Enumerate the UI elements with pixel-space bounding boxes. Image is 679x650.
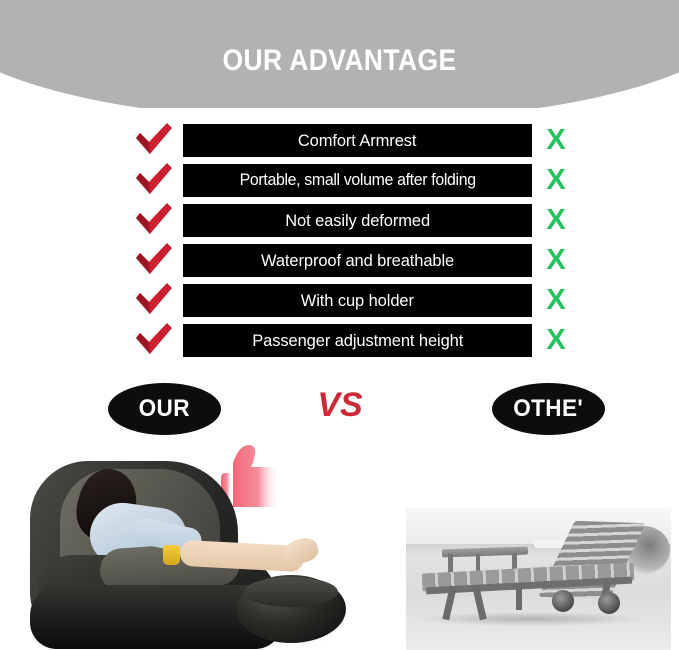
advantage-table: Comfort Armrest X Portable, small volume…: [0, 124, 679, 364]
red-check-icon: [133, 161, 175, 199]
green-x-icon: X: [539, 203, 573, 237]
table-row: With cup holder X: [0, 284, 679, 317]
red-check-icon: [133, 201, 175, 239]
feature-label: Passenger adjustment height: [252, 331, 463, 351]
page-title: OUR ADVANTAGE: [41, 44, 639, 78]
feature-label: Not easily deformed: [285, 211, 430, 231]
table-row: Waterproof and breathable X: [0, 244, 679, 277]
lounger-wheel: [598, 592, 620, 614]
green-x-icon: X: [539, 283, 573, 317]
green-x-icon: X: [539, 323, 573, 357]
green-x-icon: X: [539, 123, 573, 157]
feature-bar: Passenger adjustment height: [183, 324, 532, 357]
red-check-icon: [133, 121, 175, 159]
feature-bar: Comfort Armrest: [183, 124, 532, 157]
ottoman-top: [244, 577, 338, 607]
badge-our: OUR: [108, 383, 221, 435]
feature-label: Comfort Armrest: [298, 131, 417, 151]
feature-label: With cup holder: [301, 291, 414, 311]
table-row: Not easily deformed X: [0, 204, 679, 237]
red-check-icon: [133, 241, 175, 279]
badge-other-label: OTHE': [514, 395, 584, 423]
feature-bar: With cup holder: [183, 284, 532, 317]
red-check-icon: [133, 281, 175, 319]
versus-strip: OUR VS OTHE': [0, 383, 679, 438]
feature-label: Waterproof and breathable: [261, 251, 454, 271]
green-x-icon: X: [539, 163, 573, 197]
vs-label: VS: [300, 386, 380, 425]
cup-holder-cup: [163, 545, 180, 565]
feature-bar: Portable, small volume after folding: [183, 164, 532, 197]
table-row: Passenger adjustment height X: [0, 324, 679, 357]
badge-our-label: OUR: [139, 395, 190, 423]
feature-bar: Waterproof and breathable: [183, 244, 532, 277]
red-check-icon: [133, 321, 175, 359]
table-row: Comfort Armrest X: [0, 124, 679, 157]
feature-label: Portable, small volume after folding: [239, 171, 475, 190]
green-x-icon: X: [539, 243, 573, 277]
feature-bar: Not easily deformed: [183, 204, 532, 237]
badge-other: OTHE': [492, 383, 605, 435]
lounger-leg: [516, 584, 522, 610]
our-product-photo: [8, 447, 356, 650]
photo-boat: [534, 540, 564, 548]
other-product-photo: [406, 508, 671, 650]
lounger-wheel: [552, 590, 574, 612]
table-row: Portable, small volume after folding X: [0, 164, 679, 197]
